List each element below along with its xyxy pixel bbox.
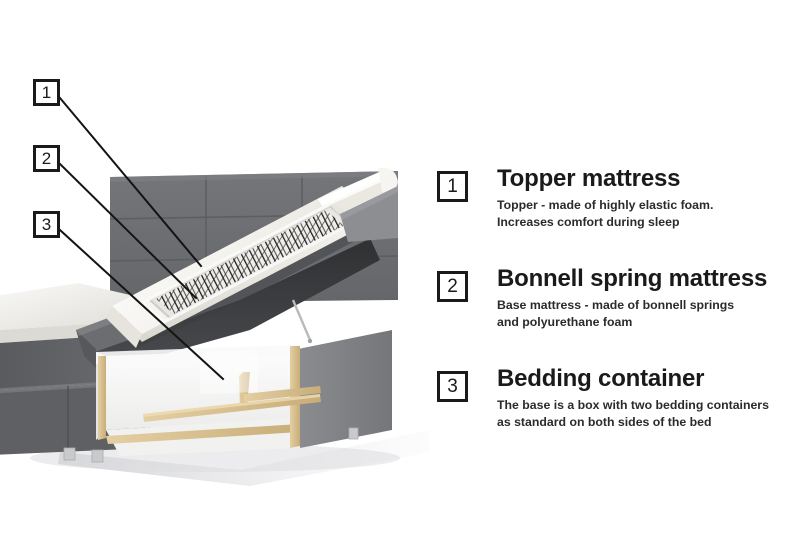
legend-title-3: Bedding container xyxy=(497,366,789,392)
legend-item-bedding-container: 3 Bedding container The base is a box wi… xyxy=(437,366,789,438)
legend-text-1: Topper mattress Topper - made of highly … xyxy=(497,166,789,230)
legend-number-2: 2 xyxy=(437,271,468,302)
legend-text-2: Bonnell spring mattress Base mattress - … xyxy=(497,266,789,330)
legend-text-3: Bedding container The base is a box with… xyxy=(497,366,789,430)
legend-number-1: 1 xyxy=(437,171,468,202)
legend-item-topper-mattress: 1 Topper mattress Topper - made of highl… xyxy=(437,166,789,238)
bed-illustration xyxy=(0,0,430,533)
legend-title-2: Bonnell spring mattress xyxy=(497,266,789,292)
legend-number-3: 3 xyxy=(437,371,468,402)
callout-box-1: 1 xyxy=(33,79,60,106)
legend-description-2: Base mattress - made of bonnell springs … xyxy=(497,297,789,329)
callout-box-2: 2 xyxy=(33,145,60,172)
legend-description-1: Topper - made of highly elastic foam. In… xyxy=(497,197,789,229)
wood-edge-left xyxy=(98,356,106,440)
infographic-root: 1 2 3 1 Topper mattress Topper - made of… xyxy=(0,0,800,533)
callout-box-3: 3 xyxy=(33,211,60,238)
gas-strut xyxy=(293,300,310,340)
legend-title-1: Topper mattress xyxy=(497,166,789,192)
legend-description-3: The base is a box with two bedding conta… xyxy=(497,397,789,429)
legend-list: 1 Topper mattress Topper - made of highl… xyxy=(437,166,789,438)
legend-item-bonnell-spring-mattress: 2 Bonnell spring mattress Base mattress … xyxy=(437,266,789,338)
